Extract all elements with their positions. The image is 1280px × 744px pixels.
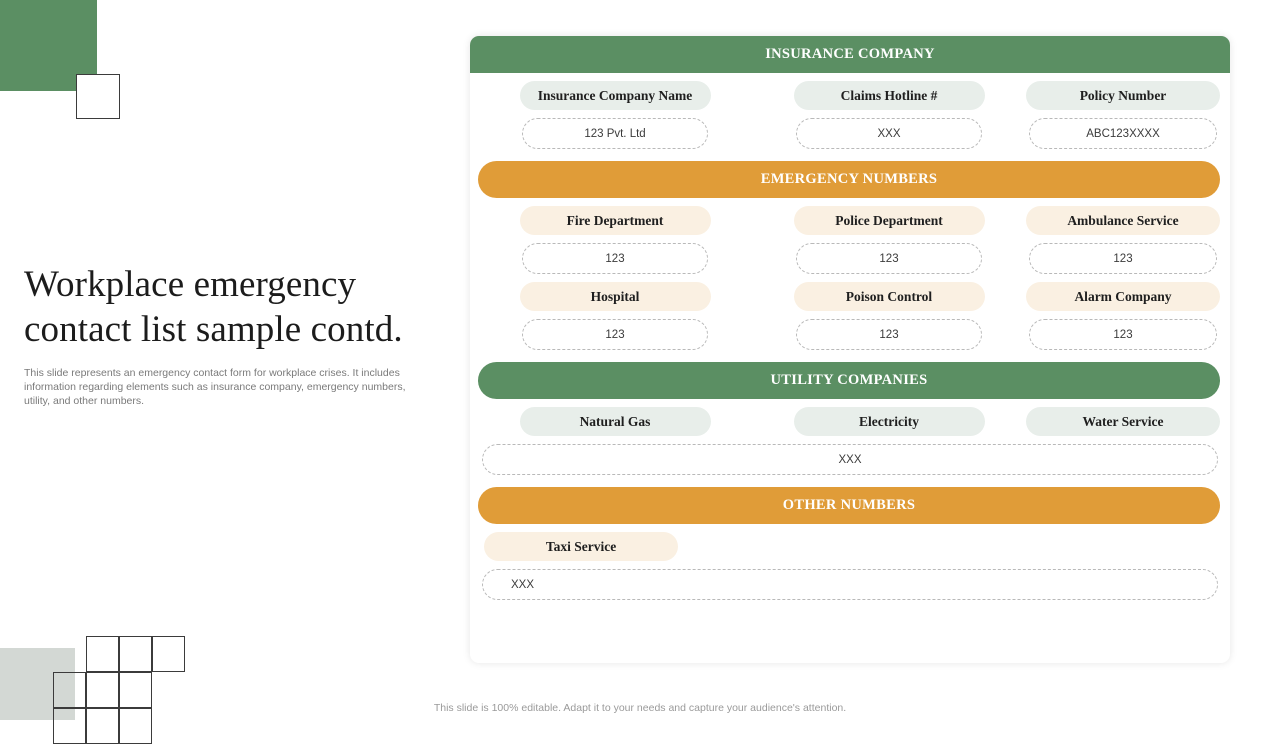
section-header-utility: UTILITY COMPANIES — [478, 362, 1220, 399]
emergency-col-3: Ambulance Service — [1026, 206, 1220, 235]
emergency-input-row-1: 123 123 123 — [478, 243, 1222, 274]
section-header-emergency: EMERGENCY NUMBERS — [478, 161, 1220, 198]
utility-section-body: Natural Gas Electricity Water Service XX… — [470, 407, 1230, 475]
label-policy-number: Policy Number — [1026, 81, 1220, 110]
emergency-input-col-3: 123 — [1026, 243, 1220, 274]
decorative-outline-square — [76, 74, 120, 119]
emergency-col-6: Alarm Company — [1026, 282, 1220, 311]
input-ambulance-service[interactable]: 123 — [1029, 243, 1217, 274]
input-alarm-company[interactable]: 123 — [1029, 319, 1217, 350]
label-police-department: Police Department — [794, 206, 985, 235]
emergency-input-col-1: 123 — [478, 243, 752, 274]
insurance-input-col-3: ABC123XXXX — [1026, 118, 1220, 149]
input-utility-numbers[interactable]: XXX — [482, 444, 1218, 475]
utility-col-3: Water Service — [1026, 407, 1220, 436]
emergency-contact-card: INSURANCE COMPANY Insurance Company Name… — [470, 36, 1230, 663]
emergency-input-row-2: 123 123 123 — [478, 319, 1222, 350]
page-description: This slide represents an emergency conta… — [24, 366, 416, 408]
emergency-col-1: Fire Department — [478, 206, 752, 235]
input-policy-number[interactable]: ABC123XXXX — [1029, 118, 1217, 149]
insurance-col-1: Insurance Company Name — [478, 81, 752, 110]
input-claims-hotline[interactable]: XXX — [796, 118, 982, 149]
grid-cell — [86, 636, 119, 672]
insurance-col-3: Policy Number — [1026, 81, 1220, 110]
other-label-row: Taxi Service — [478, 532, 1222, 561]
input-hospital[interactable]: 123 — [522, 319, 708, 350]
utility-col-1: Natural Gas — [478, 407, 752, 436]
footer-note: This slide is 100% editable. Adapt it to… — [0, 702, 1280, 714]
emergency-input-col-4: 123 — [478, 319, 752, 350]
emergency-col-2: Police Department — [752, 206, 1026, 235]
grid-cell — [119, 636, 152, 672]
insurance-input-row: 123 Pvt. Ltd XXX ABC123XXXX — [478, 118, 1222, 149]
emergency-col-5: Poison Control — [752, 282, 1026, 311]
emergency-input-col-5: 123 — [752, 319, 1026, 350]
insurance-section-body: Insurance Company Name Claims Hotline # … — [470, 81, 1230, 149]
emergency-label-row-2: Hospital Poison Control Alarm Company — [478, 282, 1222, 311]
label-claims-hotline: Claims Hotline # — [794, 81, 985, 110]
emergency-section-body: Fire Department Police Department Ambula… — [470, 206, 1230, 350]
input-poison-control[interactable]: 123 — [796, 319, 982, 350]
other-section-body: Taxi Service XXX — [470, 532, 1230, 600]
input-insurance-company-name[interactable]: 123 Pvt. Ltd — [522, 118, 708, 149]
insurance-col-2: Claims Hotline # — [752, 81, 1026, 110]
emergency-label-row-1: Fire Department Police Department Ambula… — [478, 206, 1222, 235]
label-water-service: Water Service — [1026, 407, 1220, 436]
section-header-insurance: INSURANCE COMPANY — [470, 36, 1230, 73]
insurance-input-col-2: XXX — [752, 118, 1026, 149]
insurance-label-row: Insurance Company Name Claims Hotline # … — [478, 81, 1222, 110]
label-hospital: Hospital — [520, 282, 711, 311]
label-fire-department: Fire Department — [520, 206, 711, 235]
input-other-numbers[interactable]: XXX — [482, 569, 1218, 600]
label-natural-gas: Natural Gas — [520, 407, 711, 436]
label-poison-control: Poison Control — [794, 282, 985, 311]
label-alarm-company: Alarm Company — [1026, 282, 1220, 311]
emergency-input-col-6: 123 — [1026, 319, 1220, 350]
grid-cell — [152, 636, 185, 672]
utility-col-2: Electricity — [752, 407, 1026, 436]
emergency-input-col-2: 123 — [752, 243, 1026, 274]
insurance-input-col-1: 123 Pvt. Ltd — [478, 118, 752, 149]
left-text-panel: Workplace emergency contact list sample … — [24, 262, 444, 408]
section-header-other: OTHER NUMBERS — [478, 487, 1220, 524]
label-insurance-company-name: Insurance Company Name — [520, 81, 711, 110]
label-ambulance-service: Ambulance Service — [1026, 206, 1220, 235]
label-electricity: Electricity — [794, 407, 985, 436]
emergency-col-4: Hospital — [478, 282, 752, 311]
input-police-department[interactable]: 123 — [796, 243, 982, 274]
label-taxi-service: Taxi Service — [484, 532, 678, 561]
page-title: Workplace emergency contact list sample … — [24, 262, 444, 352]
input-fire-department[interactable]: 123 — [522, 243, 708, 274]
utility-label-row: Natural Gas Electricity Water Service — [478, 407, 1222, 436]
